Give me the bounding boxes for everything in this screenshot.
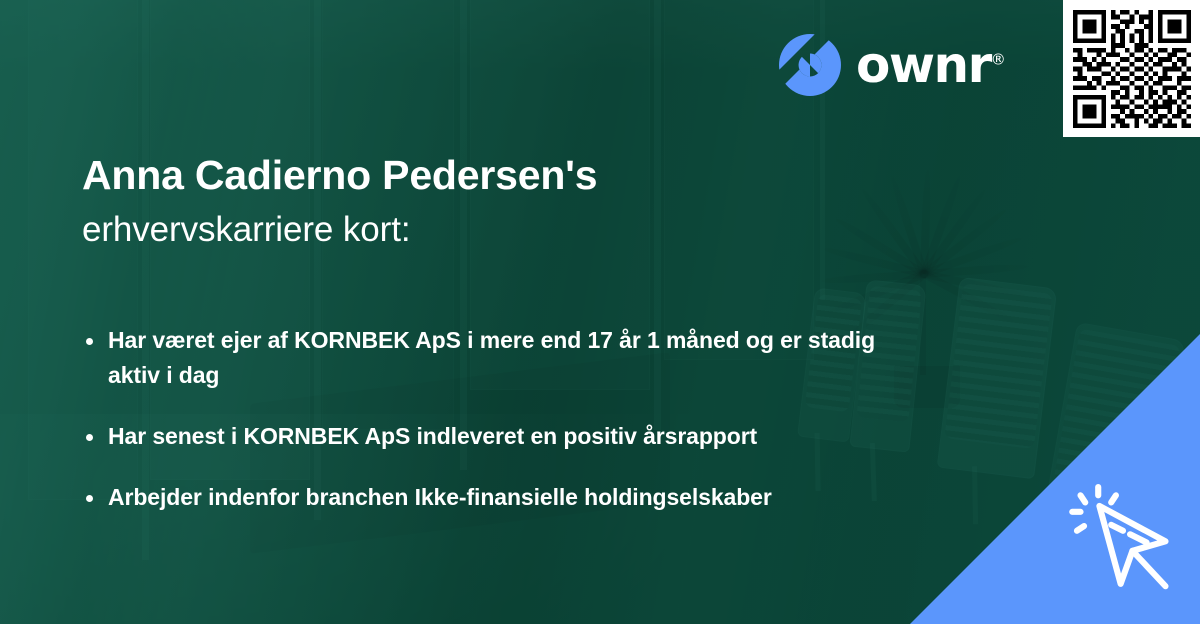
ownr-circle-swoosh-icon [778,33,842,97]
career-fact-item: Har været ejer af KORNBEK ApS i mere end… [82,323,908,393]
qr-code[interactable] [1073,10,1191,128]
career-fact-item: Har senest i KORNBEK ApS indleveret en p… [82,419,908,454]
click-cursor-icon [1064,480,1182,598]
page-subtitle: erhvervskarriere kort: [82,208,962,253]
ownr-wordmark-text: ownr [856,36,991,94]
ownr-wordmark: ownr® [856,40,1006,90]
page-title: Anna Cadierno Pedersen's [82,148,962,202]
ownr-logo[interactable]: ownr® [778,33,1006,97]
career-card: ownr® Anna Cadierno Pedersen's erhvervsk… [0,0,1200,624]
card-content: Anna Cadierno Pedersen's erhvervskarrier… [82,148,962,515]
career-facts-list: Har været ejer af KORNBEK ApS i mere end… [82,323,962,515]
career-fact-item: Arbejder indenfor branchen Ikke-finansie… [82,480,908,515]
qr-code-panel[interactable] [1063,0,1200,137]
registered-trademark-icon: ® [991,50,1006,68]
